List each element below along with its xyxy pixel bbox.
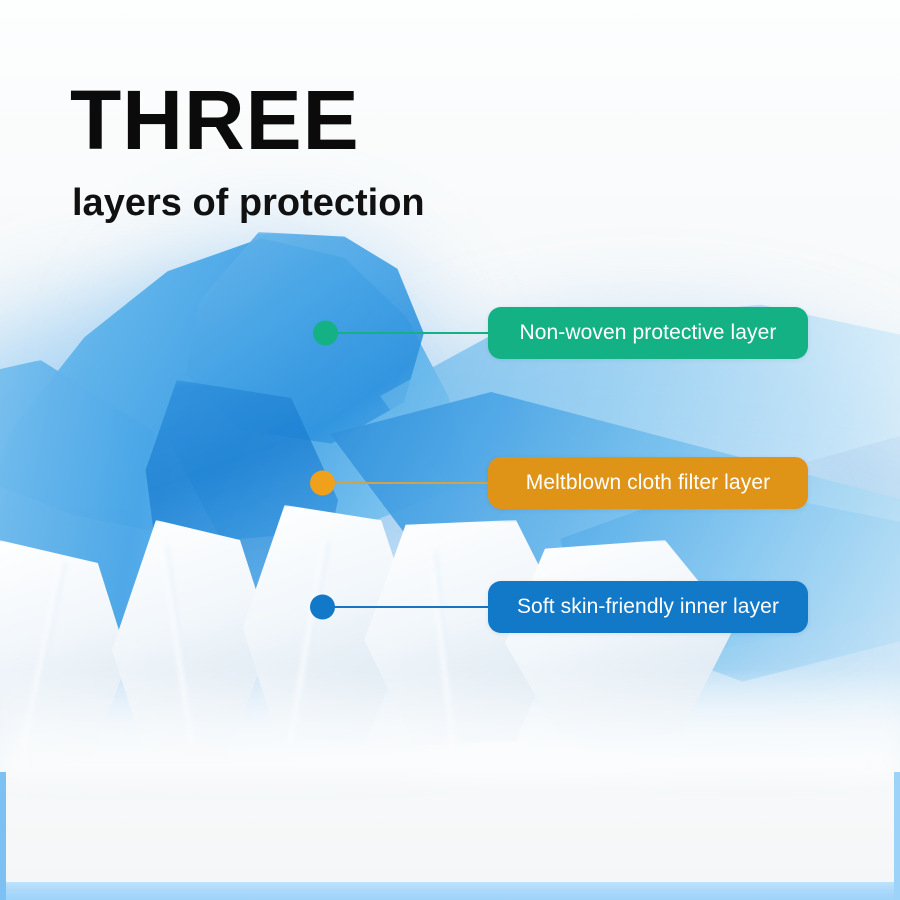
- callout-pill[interactable]: Meltblown cloth filter layer: [488, 457, 808, 509]
- callout-leader-line: [328, 606, 500, 608]
- callout-pill[interactable]: Soft skin-friendly inner layer: [488, 581, 808, 633]
- page-title: THREE: [70, 78, 425, 162]
- frame-border-bottom: [0, 882, 900, 900]
- callout-marker-dot[interactable]: [313, 321, 338, 346]
- callout-pill[interactable]: Non-woven protective layer: [488, 307, 808, 359]
- frame-border-right: [894, 772, 900, 900]
- callout-leader-line: [328, 482, 500, 484]
- callout-soft-skin-friendly-inner-layer[interactable]: Soft skin-friendly inner layer: [310, 581, 812, 633]
- callout-label: Non-woven protective layer: [519, 321, 776, 345]
- callout-marker-dot[interactable]: [310, 595, 335, 620]
- callout-non-woven-protective-layer[interactable]: Non-woven protective layer: [313, 307, 813, 359]
- callout-marker-dot[interactable]: [310, 471, 335, 496]
- callout-label: Soft skin-friendly inner layer: [517, 595, 779, 619]
- callout-meltblown-cloth-filter-layer[interactable]: Meltblown cloth filter layer: [310, 457, 812, 509]
- heading-block: THREE layers of protection: [70, 78, 425, 222]
- page-subtitle: layers of protection: [72, 184, 425, 222]
- frame-border-left: [0, 772, 6, 900]
- product-infographic: THREE layers of protection Non-woven pro…: [0, 0, 900, 900]
- callout-leader-line: [331, 332, 503, 334]
- callout-label: Meltblown cloth filter layer: [526, 471, 770, 495]
- table-surface-sheen: [0, 660, 900, 780]
